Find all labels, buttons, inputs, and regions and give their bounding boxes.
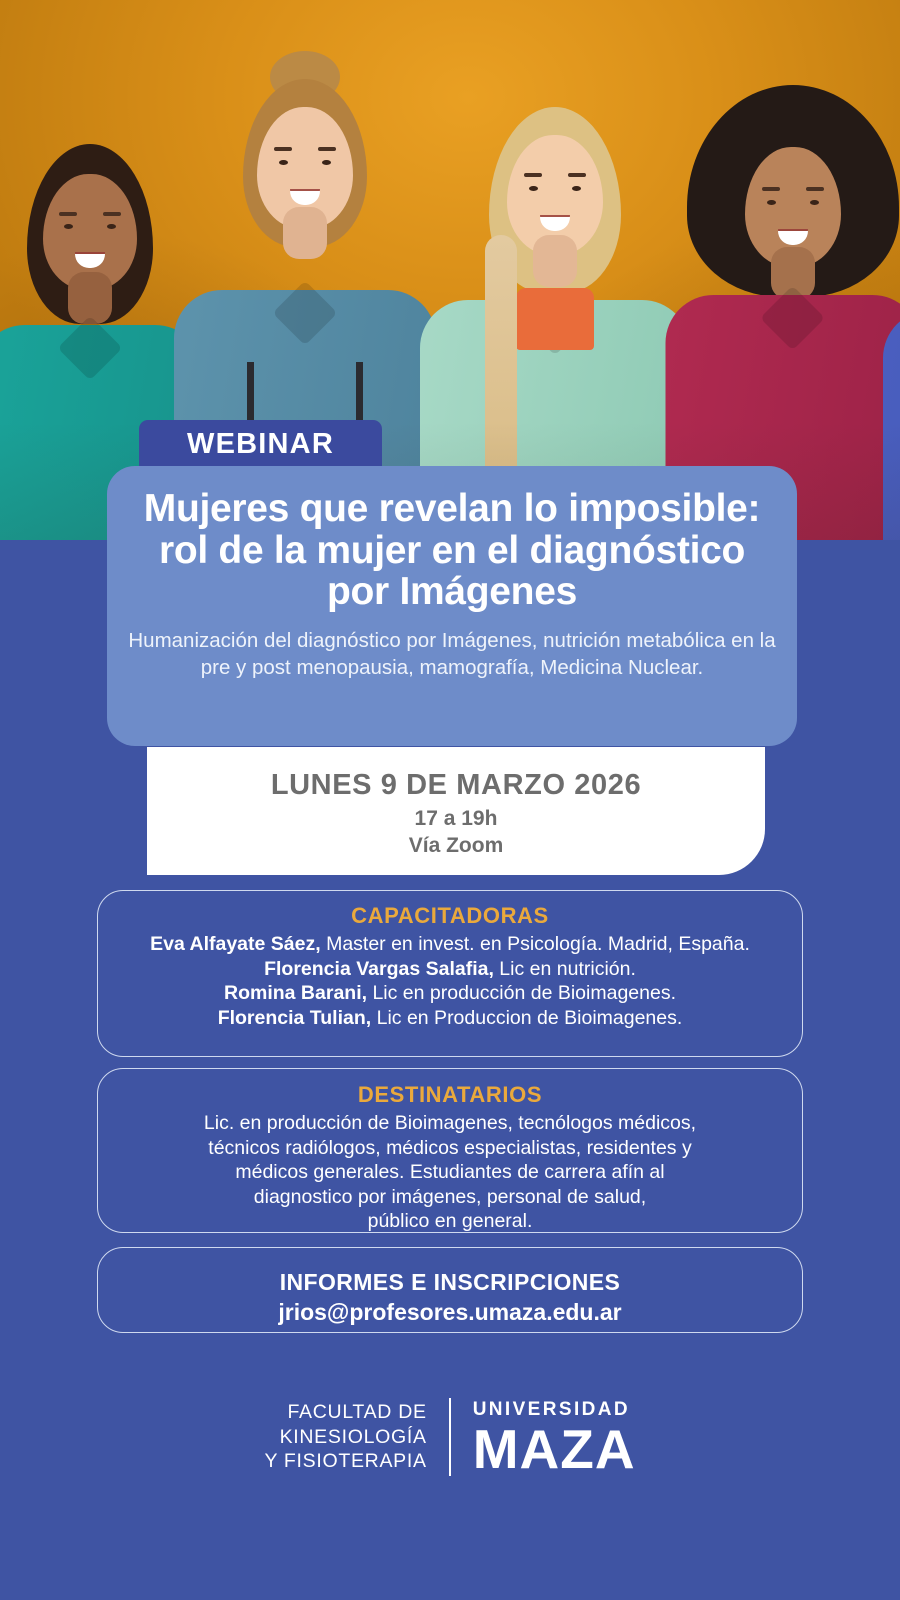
webinar-poster: WEBINAR Mujeres que revelan lo imposible… xyxy=(0,0,900,1600)
webinar-badge: WEBINAR xyxy=(139,420,382,468)
page-subtitle: Humanización del diagnóstico por Imágene… xyxy=(125,627,779,682)
title-panel: Mujeres que revelan lo imposible: rol de… xyxy=(107,466,797,746)
title-lead: Mujeres que revelan lo imposible: xyxy=(144,487,760,530)
destinatarios-line: Lic. en producción de Bioimagenes, tecnó… xyxy=(120,1111,780,1136)
university-logo: UNIVERSIDAD MAZA xyxy=(473,1399,636,1476)
destinatarios-line: público en general. xyxy=(120,1209,780,1234)
faculty-line-2: KINESIOLOGÍA xyxy=(264,1425,426,1450)
webinar-badge-label: WEBINAR xyxy=(187,428,334,461)
capacitadora-item: Eva Alfayate Sáez, Master en invest. en … xyxy=(114,932,786,957)
destinatarios-heading: DESTINATARIOS xyxy=(120,1082,780,1108)
capacitadoras-heading: CAPACITADORAS xyxy=(114,903,786,929)
capacitadora-role: Lic en producción de Bioimagenes. xyxy=(367,982,676,1004)
faculty-line-3: Y FISIOTERAPIA xyxy=(264,1449,426,1474)
destinatarios-line: médicos generales. Estudiantes de carrer… xyxy=(120,1160,780,1185)
informes-box: INFORMES E INSCRIPCIONES jrios@profesore… xyxy=(97,1247,803,1333)
capacitadora-role: Lic en Produccion de Bioimagenes. xyxy=(371,1007,682,1029)
page-title: Mujeres que revelan lo imposible: rol de… xyxy=(125,488,779,613)
faculty-name: FACULTAD DE KINESIOLOGÍA Y FISIOTERAPIA xyxy=(264,1400,426,1475)
faculty-line-1: FACULTAD DE xyxy=(264,1400,426,1425)
event-time: 17 a 19h xyxy=(415,807,498,831)
event-date: LUNES 9 DE MARZO 2026 xyxy=(271,769,641,802)
event-mode: Vía Zoom xyxy=(409,834,504,858)
capacitadoras-box: CAPACITADORAS Eva Alfayate Sáez, Master … xyxy=(97,890,803,1057)
capacitadora-item: Romina Barani, Lic en producción de Bioi… xyxy=(114,981,786,1006)
capacitadora-item: Florencia Tulian, Lic en Produccion de B… xyxy=(114,1006,786,1031)
destinatarios-box: DESTINATARIOS Lic. en producción de Bioi… xyxy=(97,1068,803,1233)
capacitadora-item: Florencia Vargas Salafia, Lic en nutrici… xyxy=(114,957,786,982)
capacitadora-name: Florencia Tulian, xyxy=(218,1007,372,1029)
footer-logo: FACULTAD DE KINESIOLOGÍA Y FISIOTERAPIA … xyxy=(0,1398,900,1476)
capacitadora-name: Florencia Vargas Salafia, xyxy=(264,958,494,980)
hero-photo xyxy=(0,0,900,540)
destinatarios-line: diagnostico por imágenes, personal de sa… xyxy=(120,1185,780,1210)
capacitadora-role: Master en invest. en Psicología. Madrid,… xyxy=(321,933,750,955)
capacitadora-name: Eva Alfayate Sáez, xyxy=(150,933,321,955)
capacitadora-role: Lic en nutrición. xyxy=(494,958,636,980)
title-rest: rol de la mujer en el diagnóstico por Im… xyxy=(159,529,745,614)
destinatarios-line: técnicos radiólogos, médicos especialist… xyxy=(120,1136,780,1161)
photo-vignette xyxy=(0,0,900,540)
informes-email[interactable]: jrios@profesores.umaza.edu.ar xyxy=(278,1299,621,1326)
capacitadora-name: Romina Barani, xyxy=(224,982,367,1004)
informes-heading: INFORMES E INSCRIPCIONES xyxy=(280,1269,621,1296)
date-box: LUNES 9 DE MARZO 2026 17 a 19h Vía Zoom xyxy=(147,747,765,875)
logo-divider xyxy=(449,1398,451,1476)
university-maza: MAZA xyxy=(473,1423,636,1476)
